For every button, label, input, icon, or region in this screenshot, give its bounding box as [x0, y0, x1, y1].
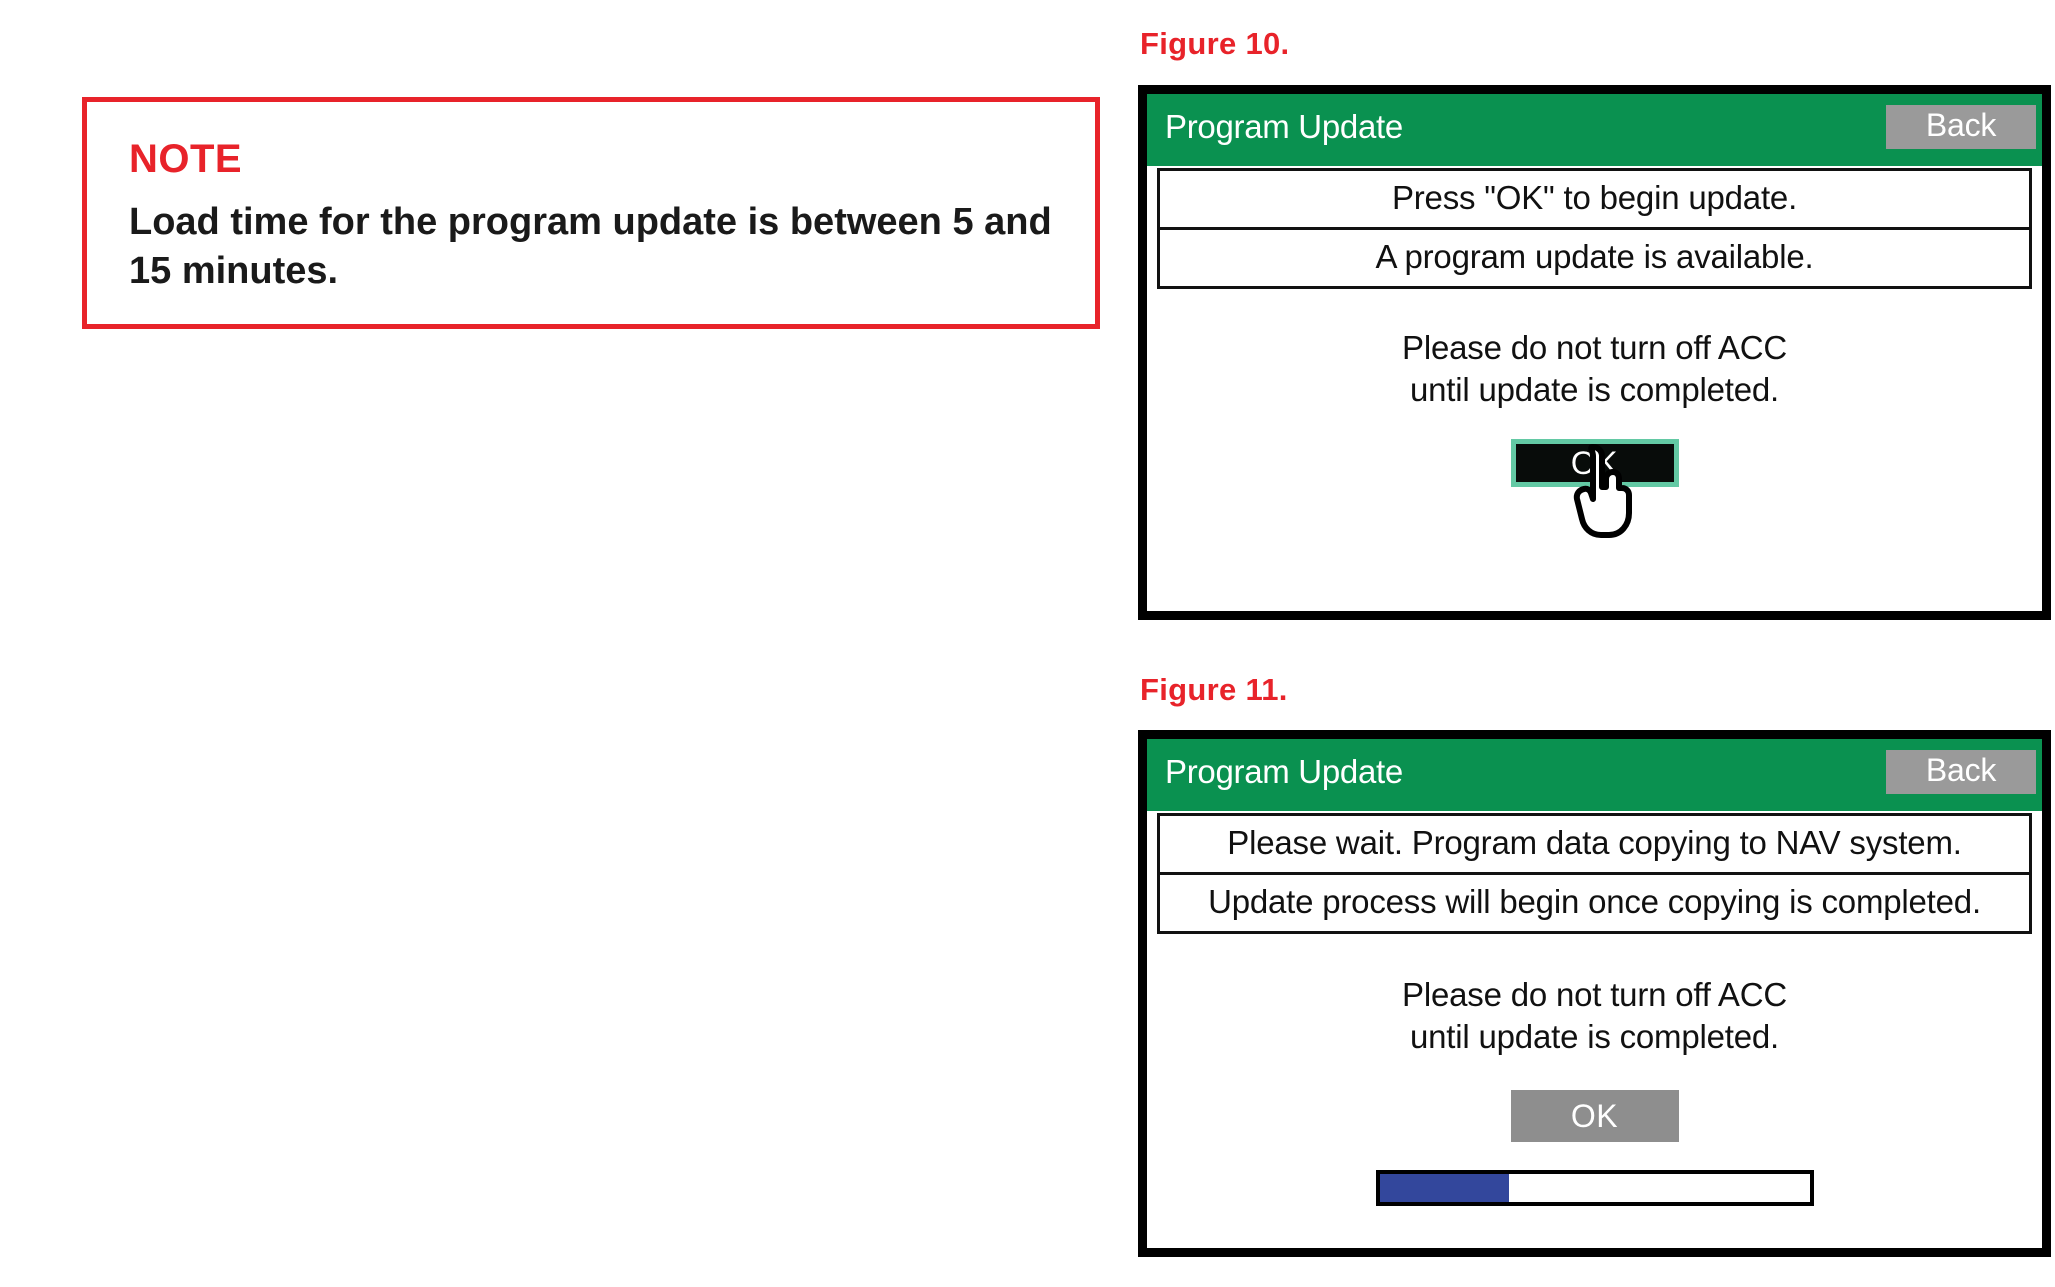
- fig11-back-button[interactable]: Back: [1886, 750, 2036, 794]
- fig10-message-row-1: Press "OK" to begin update.: [1157, 168, 2032, 230]
- fig11-warning-line-2: until update is completed.: [1147, 1016, 2042, 1058]
- fig10-warning-line-1: Please do not turn off ACC: [1147, 327, 2042, 369]
- figure-11-device-screen: Program Update Back Please wait. Program…: [1138, 730, 2051, 1257]
- fig11-warning-text: Please do not turn off ACC until update …: [1147, 974, 2042, 1058]
- fig11-titlebar-underline: [1147, 805, 2042, 811]
- note-title: NOTE: [129, 138, 1065, 180]
- fig11-message-rows: Please wait. Program data copying to NAV…: [1147, 813, 2042, 934]
- fig11-screen-title: Program Update: [1165, 753, 1403, 791]
- fig11-progress-fill: [1380, 1174, 1509, 1202]
- fig10-warning-text: Please do not turn off ACC until update …: [1147, 327, 2042, 411]
- note-body-text: Load time for the program update is betw…: [129, 198, 1059, 295]
- figure-10-caption: Figure 10.: [1140, 26, 1289, 62]
- fig11-warning-line-1: Please do not turn off ACC: [1147, 974, 2042, 1016]
- fig11-titlebar: Program Update Back: [1147, 739, 2042, 805]
- fig10-titlebar-underline: [1147, 160, 2042, 166]
- fig11-message-row-2: Update process will begin once copying i…: [1157, 872, 2032, 934]
- figure-10-device-screen: Program Update Back Press "OK" to begin …: [1138, 85, 2051, 620]
- fig10-ok-button[interactable]: OK: [1511, 439, 1679, 487]
- fig10-screen-title: Program Update: [1165, 108, 1403, 146]
- fig10-warning-line-2: until update is completed.: [1147, 369, 2042, 411]
- fig10-message-rows: Press "OK" to begin update. A program up…: [1147, 168, 2042, 289]
- figure-11-caption: Figure 11.: [1140, 672, 1288, 708]
- note-callout-box: NOTE Load time for the program update is…: [82, 97, 1100, 329]
- fig10-titlebar: Program Update Back: [1147, 94, 2042, 160]
- fig10-back-button[interactable]: Back: [1886, 105, 2036, 149]
- fig11-progress-track: [1376, 1170, 1814, 1206]
- fig11-message-row-1: Please wait. Program data copying to NAV…: [1157, 813, 2032, 875]
- fig11-ok-button: OK: [1511, 1090, 1679, 1142]
- fig10-message-row-2: A program update is available.: [1157, 227, 2032, 289]
- fig11-progress-bar: [1147, 1170, 2042, 1206]
